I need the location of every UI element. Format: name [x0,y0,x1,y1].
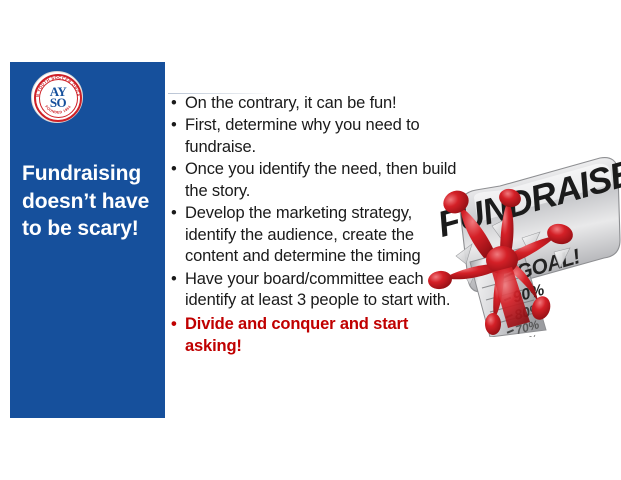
title-panel: AMERICAN YOUTH SOCCER ORGANIZATION FOUND… [10,62,165,418]
bullet-marker-icon: • [171,203,177,224]
bullet-marker-icon: • [171,159,177,180]
bullet-text: Divide and conquer and start asking! [185,315,408,354]
bullet-marker-icon: • [171,269,177,290]
bullet-marker-icon: • [171,115,177,136]
page-title: Fundraising doesn’t have to be scary! [22,160,162,243]
bullet-marker-icon: • [171,314,177,335]
ayso-logo: AMERICAN YOUTH SOCCER ORGANIZATION FOUND… [31,71,83,123]
bullet-text: Develop the marketing strategy, identify… [185,204,421,265]
fundraiser-thermometer-illustration: FUNDRAISER GOAL! 90% 80% 70% 60% [404,152,621,337]
logo-monogram-line2: SO [50,98,66,109]
bullet-text: On the contrary, it can be fun! [185,94,397,112]
logo-monogram: AY SO [32,72,84,124]
bullet-item: •On the contrary, it can be fun! [168,93,458,114]
bullet-marker-icon: • [171,93,177,114]
slide-canvas: AMERICAN YOUTH SOCCER ORGANIZATION FOUND… [0,0,621,480]
bullet-text: First, determine why you need to fundrai… [185,116,420,155]
